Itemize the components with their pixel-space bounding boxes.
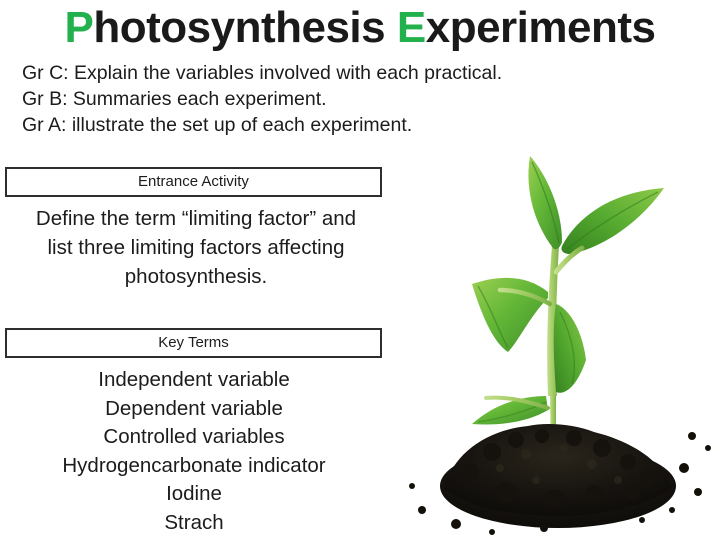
objective-line-c: Gr C: Explain the variables involved wit…: [22, 60, 582, 86]
title-space: [385, 3, 397, 52]
entrance-body-line-2: list three limiting factors affecting: [5, 233, 387, 262]
key-term-item: Controlled variables: [0, 423, 388, 452]
key-terms-list: Independent variable Dependent variable …: [0, 366, 388, 537]
entrance-activity-body: Define the term “limiting factor” and li…: [5, 204, 387, 291]
entrance-body-line-1: Define the term “limiting factor” and: [5, 204, 387, 233]
key-term-item: Hydrogencarbonate indicator: [0, 452, 388, 481]
key-terms-header-box: Key Terms: [5, 328, 382, 358]
key-terms-label: Key Terms: [158, 335, 229, 351]
seedling-in-soil-photo: [396, 96, 720, 539]
entrance-body-line-3: photosynthesis.: [5, 262, 387, 291]
leaf-upper-right: [561, 188, 664, 254]
entrance-activity-header-box: Entrance Activity: [5, 167, 382, 197]
leaf-mid-right: [554, 304, 586, 393]
key-term-item: Dependent variable: [0, 395, 388, 424]
key-term-item: Independent variable: [0, 366, 388, 395]
slide-canvas: Photosynthesis Experiments Gr C: Explain…: [0, 0, 720, 539]
page-title: Photosynthesis Experiments: [0, 2, 720, 54]
entrance-activity-label: Entrance Activity: [138, 174, 249, 190]
title-word-photosynthesis: hotosynthesis: [93, 3, 385, 52]
title-accent-e: E: [397, 3, 426, 52]
title-word-experiments: xperiments: [426, 3, 656, 52]
title-accent-p: P: [65, 3, 94, 52]
key-term-item: Strach: [0, 509, 388, 538]
key-term-item: Iodine: [0, 480, 388, 509]
